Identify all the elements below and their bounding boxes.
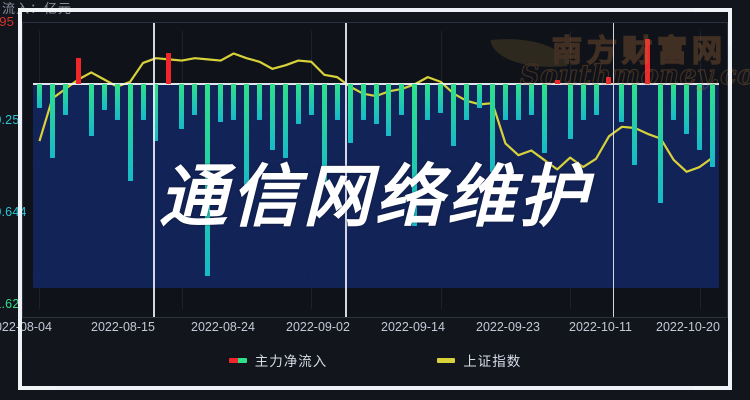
x-axis-tick-label: 2022-08-15 xyxy=(91,320,155,334)
chart-bar[interactable] xyxy=(503,84,508,119)
chart-bar[interactable] xyxy=(399,84,404,115)
x-axis-labels: 2022-08-042022-08-152022-08-242022-09-02… xyxy=(0,320,750,342)
chart-bar[interactable] xyxy=(594,84,599,115)
chart-bar[interactable] xyxy=(270,84,275,150)
chart-bar[interactable] xyxy=(115,84,120,119)
legend-label: 上证指数 xyxy=(463,350,521,370)
x-axis-tick-label: 2022-09-14 xyxy=(381,320,445,334)
chart-bar[interactable] xyxy=(283,84,288,157)
chart-bar[interactable] xyxy=(141,84,146,119)
chart-bar[interactable] xyxy=(581,84,586,119)
x-axis-tick-label: 2022-08-24 xyxy=(191,320,255,334)
chart-bar[interactable] xyxy=(477,84,482,108)
chart-bar[interactable] xyxy=(438,84,443,112)
legend-item-2[interactable]: 上证指数 xyxy=(437,350,521,370)
chart-bar[interactable] xyxy=(361,84,366,119)
screenshot-root: 流入：亿元 0-0.25-0.644-1.623.95 2022-08-0420… xyxy=(0,0,750,400)
chart-bar[interactable] xyxy=(50,84,55,157)
chart-bar[interactable] xyxy=(645,39,650,84)
legend-label: 主力净流入 xyxy=(255,350,328,370)
x-axis-tick-label: 2022-10-20 xyxy=(656,320,720,334)
chart-bar[interactable] xyxy=(102,84,107,110)
chart-bar[interactable] xyxy=(309,84,314,115)
chart-bar[interactable] xyxy=(89,84,94,136)
chart-bar[interactable] xyxy=(63,84,68,115)
legend-marker-icon xyxy=(437,358,455,363)
chart-bar[interactable] xyxy=(684,84,689,134)
chart-bar[interactable] xyxy=(374,84,379,124)
x-axis-tick-label: 2022-08-04 xyxy=(0,320,52,334)
x-axis-tick-label: 2022-09-23 xyxy=(476,320,540,334)
chart-bar[interactable] xyxy=(257,84,262,119)
chart-bar[interactable] xyxy=(671,84,676,119)
chart-bar[interactable] xyxy=(76,58,81,84)
chart-bar[interactable] xyxy=(231,84,236,119)
chart-bar[interactable] xyxy=(335,84,340,119)
y-axis-tick-label: -0.25 xyxy=(0,113,20,127)
y-axis-top-clipped-label: 3.95 xyxy=(0,14,14,29)
x-axis-tick-label: 2022-09-02 xyxy=(286,320,350,334)
chart-bar[interactable] xyxy=(619,84,624,122)
x-axis-tick-label: 2022-10-11 xyxy=(569,320,632,334)
chart-bar[interactable] xyxy=(348,84,353,143)
chart-legend[interactable]: 主力净流入上证指数 xyxy=(0,348,750,372)
chart-bar[interactable] xyxy=(37,84,42,108)
legend-marker-icon xyxy=(229,358,247,363)
chart-bar[interactable] xyxy=(606,77,611,84)
chart-bar[interactable] xyxy=(386,84,391,136)
chart-bar[interactable] xyxy=(516,84,521,119)
legend-item-1[interactable]: 主力净流入 xyxy=(229,350,328,370)
axis-unit-label: 流入：亿元 xyxy=(0,0,750,20)
chart-bar[interactable] xyxy=(192,84,197,115)
chart-bar[interactable] xyxy=(296,84,301,124)
chart-bar[interactable] xyxy=(697,84,702,150)
page-title: 通信网络维护 xyxy=(0,150,750,246)
chart-bar[interactable] xyxy=(425,84,430,119)
chart-bar[interactable] xyxy=(555,80,560,85)
chart-bar[interactable] xyxy=(451,84,456,146)
chart-bar[interactable] xyxy=(166,53,171,84)
frame-bottom-edge xyxy=(18,386,732,390)
chart-bar[interactable] xyxy=(464,84,469,119)
chart-bar[interactable] xyxy=(179,84,184,129)
chart-bar[interactable] xyxy=(218,84,223,122)
y-axis-tick-label: -1.62 xyxy=(0,297,20,311)
chart-bar[interactable] xyxy=(529,84,534,115)
chart-bar[interactable] xyxy=(542,84,547,153)
chart-bar[interactable] xyxy=(568,84,573,138)
